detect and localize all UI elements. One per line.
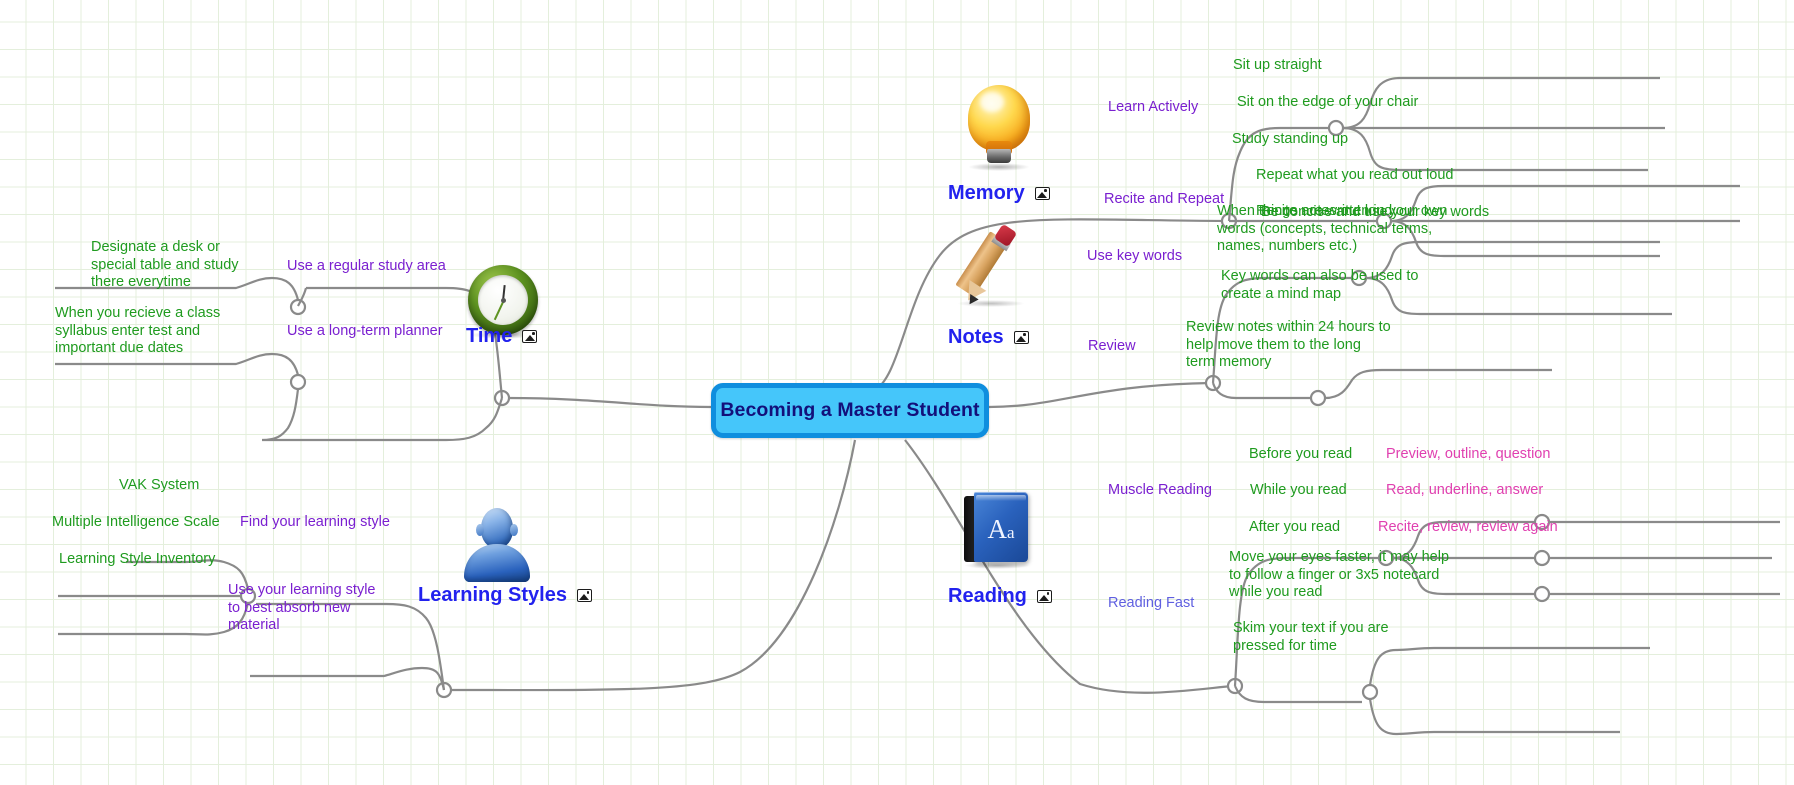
leaf-key-words-mind-map[interactable]: Key words can also be used to create a m… bbox=[1221, 268, 1421, 303]
sub-label-use-key-words[interactable]: Use key words bbox=[1087, 248, 1182, 266]
leaf-repeat-out-loud[interactable]: Repeat what you read out loud bbox=[1256, 167, 1454, 185]
branch-label-time: Time bbox=[466, 324, 512, 348]
leaf-after-you-read[interactable]: After you read bbox=[1249, 519, 1340, 537]
branch-label-memory: Memory bbox=[948, 181, 1025, 205]
image-icon[interactable] bbox=[1035, 187, 1050, 200]
root-node[interactable]: Becoming a Master Student bbox=[711, 383, 989, 438]
sub-label-long-term-planner[interactable]: Use a long-term planner bbox=[287, 323, 443, 341]
sub-label-review[interactable]: Review bbox=[1088, 338, 1136, 356]
person-icon bbox=[460, 506, 534, 588]
leaf-sit-up-straight[interactable]: Sit up straight bbox=[1233, 57, 1322, 75]
branch-title-memory[interactable]: Memory bbox=[948, 181, 1050, 205]
leaf-learning-style-inventory[interactable]: Learning Style Inventory bbox=[59, 551, 215, 569]
sub-label-use-your-learning-style[interactable]: Use your learning style to best absorb n… bbox=[228, 582, 378, 635]
leaf-multiple-intelligence-scale[interactable]: Multiple Intelligence Scale bbox=[52, 514, 220, 532]
leaf-be-concise[interactable]: Be concise and use your key words bbox=[1261, 204, 1489, 222]
leaf-recite-review-again[interactable]: Recite, review, review again bbox=[1378, 519, 1558, 537]
image-icon[interactable] bbox=[522, 330, 537, 343]
book-glyph: Aa bbox=[974, 516, 1028, 543]
sub-label-reading-fast[interactable]: Reading Fast bbox=[1108, 595, 1194, 613]
image-icon[interactable] bbox=[577, 589, 592, 602]
leaf-study-standing-up[interactable]: Study standing up bbox=[1232, 131, 1348, 149]
sub-label-regular-study-area[interactable]: Use a regular study area bbox=[287, 258, 446, 276]
leaf-class-syllabus[interactable]: When you recieve a class syllabus enter … bbox=[55, 305, 240, 358]
leaf-vak-system[interactable]: VAK System bbox=[119, 477, 199, 495]
leaf-review-24-hours[interactable]: Review notes within 24 hours to help mov… bbox=[1186, 319, 1391, 372]
leaf-preview-outline-question[interactable]: Preview, outline, question bbox=[1386, 446, 1550, 464]
leaf-sit-on-edge[interactable]: Sit on the edge of your chair bbox=[1237, 94, 1418, 112]
sub-label-find-your-learning-style[interactable]: Find your learning style bbox=[240, 514, 390, 532]
leaf-designate-a-desk[interactable]: Designate a desk or special table and st… bbox=[91, 239, 241, 292]
leaf-move-eyes-faster[interactable]: Move your eyes faster, it may help to fo… bbox=[1229, 549, 1451, 602]
leaf-before-you-read[interactable]: Before you read bbox=[1249, 446, 1352, 464]
branch-title-time[interactable]: Time bbox=[466, 324, 537, 348]
leaf-skim-your-text[interactable]: Skim your text if you are pressed for ti… bbox=[1233, 620, 1423, 655]
pencil-icon bbox=[955, 228, 1029, 312]
sub-label-recite-and-repeat[interactable]: Recite and Repeat bbox=[1104, 191, 1224, 209]
book-icon: Aa bbox=[962, 490, 1034, 572]
branch-title-notes[interactable]: Notes bbox=[948, 325, 1029, 349]
image-icon[interactable] bbox=[1014, 331, 1029, 344]
branch-title-learning-styles[interactable]: Learning Styles bbox=[418, 583, 592, 607]
branch-label-learning-styles: Learning Styles bbox=[418, 583, 567, 607]
leaf-read-underline-answer[interactable]: Read, underline, answer bbox=[1386, 482, 1543, 500]
lightbulb-icon bbox=[962, 85, 1036, 169]
branch-label-notes: Notes bbox=[948, 325, 1004, 349]
branch-label-reading: Reading bbox=[948, 584, 1027, 608]
sub-label-learn-actively[interactable]: Learn Actively bbox=[1108, 99, 1198, 117]
sub-label-muscle-reading[interactable]: Muscle Reading bbox=[1108, 482, 1212, 500]
leaf-while-you-read[interactable]: While you read bbox=[1250, 482, 1347, 500]
branch-title-reading[interactable]: Reading bbox=[948, 584, 1052, 608]
image-icon[interactable] bbox=[1037, 590, 1052, 603]
root-label: Becoming a Master Student bbox=[720, 399, 979, 422]
